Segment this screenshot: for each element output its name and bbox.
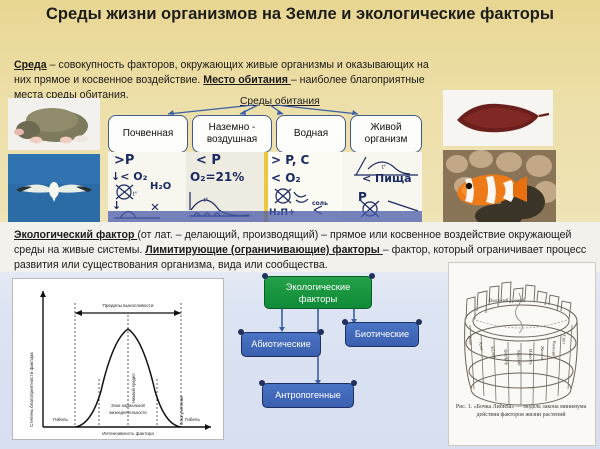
chart-annotation-tolerance: Пределы выносливости	[103, 303, 154, 308]
page-title: Среды жизни организмов на Земле и эколог…	[30, 4, 570, 25]
diagram-node-abiotic[interactable]: Абиотические	[241, 332, 321, 357]
chart-annotation-death-left: Гибель	[53, 417, 68, 422]
chart-ylabel: Степень благоприятности фактора	[29, 352, 34, 427]
ink-water-0: > P, C	[271, 153, 309, 167]
ink-air-0: < P	[196, 153, 221, 168]
term-limiting-factors: Лимитирующие (ограничивающие) факторы	[145, 244, 382, 256]
node-knob-6	[259, 380, 265, 386]
node-knob-4	[342, 319, 348, 325]
slide-root: Среды жизни организмов на Земле и эколог…	[0, 0, 600, 449]
barrel-top-label: Высокий урожай	[489, 299, 525, 304]
node-knob-5	[416, 319, 422, 325]
svg-text:t°: t°	[133, 192, 138, 198]
habitat-box-living-organism[interactable]: Живой организм	[350, 115, 422, 153]
chart-annotation-normal-zone-2: жизнедеятельности	[109, 410, 146, 415]
tolerance-curve-chart: Пределы выносливости Нижний предел Верхн…	[12, 278, 224, 440]
diagram-node-biotic[interactable]: Биотические	[345, 322, 419, 347]
diagram-node-anthropogenic[interactable]: Антропогенные	[262, 383, 354, 408]
node-knob-7	[351, 380, 357, 386]
barrel-stave-label-8: Свет	[561, 335, 567, 345]
term-sreda: Среда	[14, 59, 47, 71]
ink-water-1: < O₂	[271, 171, 301, 185]
barrel-stave-label-7: Кальций	[551, 341, 557, 358]
ink-soil-0: >P	[114, 153, 134, 168]
chart-annotation-lower-limit: Нижний предел	[131, 373, 136, 403]
habitat-box-soil[interactable]: Почвенная	[108, 115, 188, 153]
environment-definition-paragraph: Среда – совокупность факторов, окружающи…	[14, 58, 446, 103]
fluke-photo	[443, 90, 553, 146]
chart-annotation-depression-left: Зона угнетения	[179, 396, 184, 425]
scan-bottom-strip	[108, 211, 422, 222]
chart-annotation-death-right: Гибель	[185, 417, 200, 422]
node-knob-0	[262, 273, 268, 279]
svg-text:t°: t°	[382, 165, 387, 171]
svg-text:t°: t°	[204, 198, 209, 204]
barrel-stave-label-5: Известь	[528, 349, 534, 365]
ink-air-1: O₂=21%	[190, 170, 244, 184]
seagull-photo	[8, 154, 100, 222]
node-knob-1	[369, 273, 375, 279]
term-ecological-factor: Экологический фактор	[14, 229, 137, 241]
barrel-stave-label-6: Железо	[540, 346, 545, 360]
clownfish-photo	[443, 150, 556, 222]
node-knob-3	[318, 329, 324, 335]
chart-annotation-normal-zone-1: Зона нормальной	[111, 403, 145, 408]
barrel-caption: Рис. 1. «Бочка Либиха» — модель закона м…	[452, 404, 590, 420]
diagram-root-ecological-factors[interactable]: Экологические факторы	[264, 276, 372, 309]
habitat-box-water[interactable]: Водная	[276, 115, 346, 153]
barrel-stave-label-4: Магний	[516, 350, 522, 366]
chart-xlabel: Интенсивность фактора	[102, 431, 154, 436]
habitat-box-ground-air[interactable]: Наземно - воздушная	[192, 115, 272, 153]
term-mesto-obitaniya: Место обитания	[203, 74, 291, 86]
node-knob-2	[238, 329, 244, 335]
mole-photo	[8, 98, 100, 150]
